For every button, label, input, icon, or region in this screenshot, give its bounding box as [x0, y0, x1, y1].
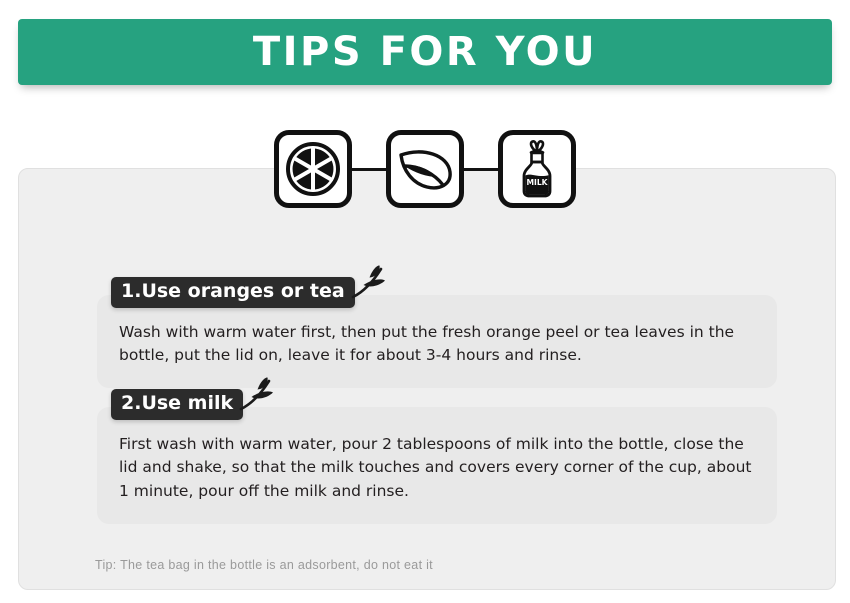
tip-section-2: 2.Use milk First wash with warm water, p…	[97, 389, 777, 524]
page-title: TIPS FOR YOU	[253, 32, 597, 72]
icon-connector-line	[352, 168, 386, 171]
orange-slice-icon	[285, 141, 341, 197]
tip-heading-2: 2.Use milk	[111, 389, 243, 420]
icon-box-orange	[274, 130, 352, 208]
icon-connector-line	[464, 168, 498, 171]
tip-badge-label-1: 1.Use oranges or tea	[111, 277, 355, 308]
tip-body-card-2: First wash with warm water, pour 2 table…	[97, 407, 777, 524]
tip-body-text-1: Wash with warm water first, then put the…	[119, 321, 755, 368]
icon-box-milk: MILK	[498, 130, 576, 208]
tip-body-card-1: Wash with warm water first, then put the…	[97, 295, 777, 388]
tip-heading-1: 1.Use oranges or tea	[111, 277, 355, 308]
content-panel: 1.Use oranges or tea Wash with warm wate…	[18, 168, 836, 590]
milk-bottle-label: MILK	[526, 178, 548, 187]
milk-bottle-icon: MILK	[512, 139, 562, 199]
tip-badge-label-2: 2.Use milk	[111, 389, 243, 420]
tea-leaf-icon	[396, 145, 454, 193]
tip-section-1: 1.Use oranges or tea Wash with warm wate…	[97, 277, 777, 388]
tip-body-text-2: First wash with warm water, pour 2 table…	[119, 433, 755, 504]
icon-box-leaf	[386, 130, 464, 208]
tips-infographic: TIPS FOR YOU	[0, 0, 850, 603]
header-banner: TIPS FOR YOU	[18, 19, 832, 85]
footnote-text: Tip: The tea bag in the bottle is an ads…	[95, 558, 433, 572]
